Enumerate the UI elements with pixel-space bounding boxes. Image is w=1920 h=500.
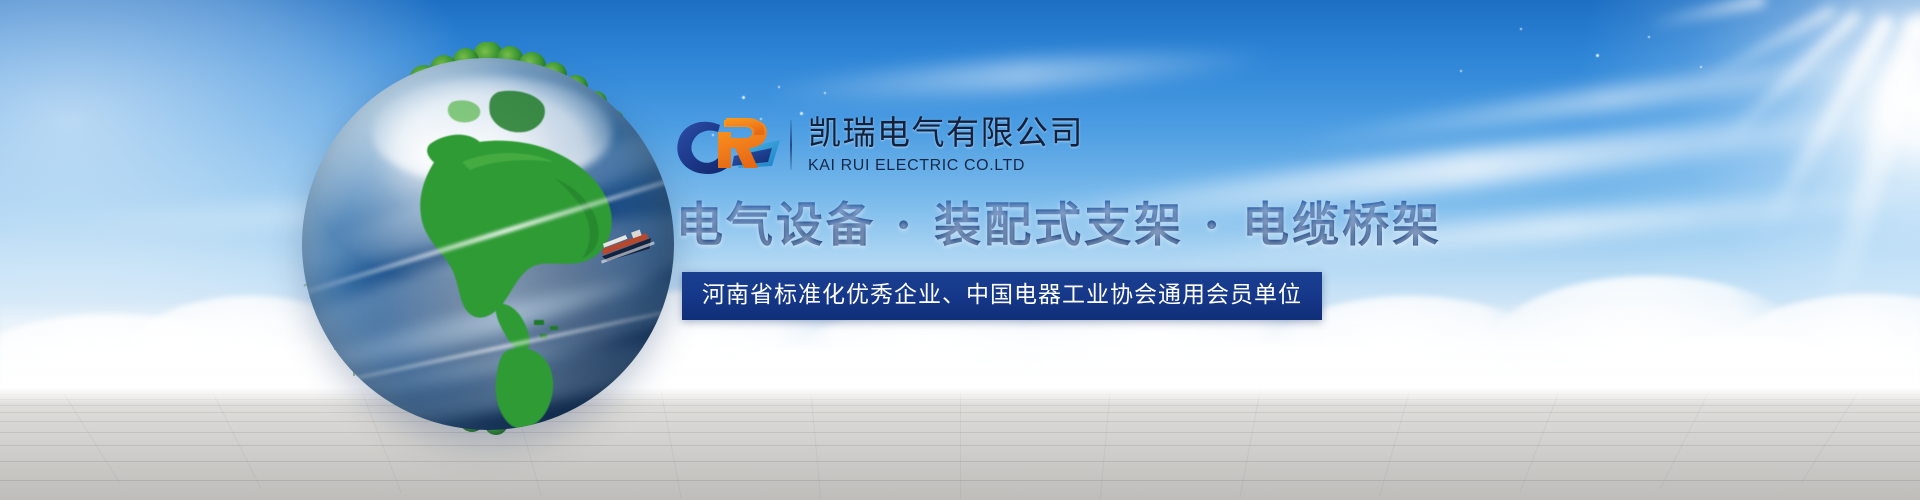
- sparkle: [1596, 54, 1599, 57]
- hero-banner: 凯瑞电气有限公司 KAI RUI ELECTRIC CO.LTD 电气设备 · …: [0, 0, 1920, 500]
- headline-text: 电气设备 · 装配式支架 · 电缆桥架: [676, 196, 1442, 256]
- company-name-en: KAI RUI ELECTRIC CO.LTD: [808, 155, 1084, 177]
- green-earth-globe-icon: [278, 42, 698, 442]
- pavement-joint-v: [960, 388, 961, 500]
- sparkle: [778, 86, 780, 88]
- sparkle: [742, 96, 745, 99]
- logo-lockup: 凯瑞电气有限公司 KAI RUI ELECTRIC CO.LTD: [672, 112, 1084, 178]
- brand-text-block: 凯瑞电气有限公司 KAI RUI ELECTRIC CO.LTD 电气设备 · …: [672, 104, 1412, 404]
- pavement-joint-v: [1801, 388, 1861, 483]
- sparkle: [824, 92, 826, 94]
- sparkle: [1520, 28, 1522, 30]
- cr-monogram-logo-icon: [672, 112, 784, 178]
- sparkle: [1460, 70, 1462, 72]
- company-name-cn: 凯瑞电气有限公司: [808, 113, 1084, 153]
- pavement-joint-v: [1660, 388, 1711, 488]
- sparkle: [1700, 66, 1702, 68]
- pavement-joint-v: [1519, 388, 1561, 493]
- pavement-joint-v: [210, 388, 261, 488]
- pavement-joint-v: [60, 388, 120, 483]
- logo-divider: [790, 120, 792, 170]
- sparkle: [1648, 36, 1650, 38]
- status-badge: 河南省标准化优秀企业、中国电器工业协会通用会员单位: [682, 272, 1322, 320]
